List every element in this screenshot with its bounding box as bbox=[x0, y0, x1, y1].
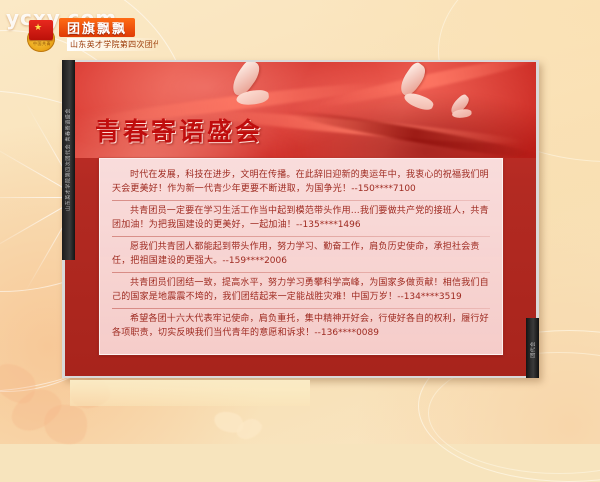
logo: ★ 中国共青团 团旗飘飘 山东英才学院第四次团代会 bbox=[25, 10, 155, 54]
message-signature: --150****7100 bbox=[351, 184, 416, 194]
emblem-micro-text: 中国共青团 bbox=[31, 40, 53, 48]
message-item: 希望各团十六大代表牢记使命，肩负重托，集中精神开好会，行使好各自的权利，履行好各… bbox=[110, 309, 492, 344]
message-signature: --136****0089 bbox=[314, 328, 379, 338]
message-item: 共青团员一定要在学习生活工作当中起到模范带头作用…我们要做共产党的接班人，共青团… bbox=[110, 201, 492, 236]
message-item: 愿我们共青团人都能起到带头作用，努力学习、勤奋工作，肩负历史使命，承担社会责任，… bbox=[110, 237, 492, 272]
left-vertical-strip: 山东英才学院第四次团代会 青春寄语盛会 bbox=[62, 60, 75, 260]
message-item: 共青团员们团结一致，提高水平，努力学习勇攀科学高峰，为国家多做贡献！相信我们自己… bbox=[110, 273, 492, 308]
message-text: 愿我们共青团人都能起到带头作用，努力学习、勤奋工作，肩负历史使命，承担社会责任，… bbox=[112, 242, 480, 266]
left-strip-label: 山东英才学院第四次团代会 青春寄语盛会 bbox=[65, 61, 72, 259]
slide-frame: 青春寄语盛会 时代在发展，科技在进步，文明在传播。在此辞旧迎新的奥运年中，我衷心… bbox=[62, 60, 539, 378]
message-item: 时代在发展，科技在进步，文明在传播。在此辞旧迎新的奥运年中，我衷心的祝福我们明天… bbox=[110, 165, 492, 200]
message-signature: --135****1496 bbox=[296, 220, 361, 230]
message-signature: --134****3519 bbox=[397, 292, 462, 302]
right-strip-label: 团代会 bbox=[530, 320, 537, 380]
message-signature: --159****2006 bbox=[222, 256, 287, 266]
messages-panel: 时代在发展，科技在进步，文明在传播。在此辞旧迎新的奥运年中，我衷心的祝福我们明天… bbox=[99, 158, 503, 355]
youth-league-emblem-icon: ★ 中国共青团 bbox=[25, 20, 59, 52]
logo-subtitle: 山东英才学院第四次团代会 bbox=[67, 38, 158, 51]
logo-title: 团旗飘飘 bbox=[59, 18, 135, 37]
page-title: 青春寄语盛会 bbox=[95, 112, 263, 148]
right-vertical-strip: 团代会 bbox=[526, 318, 539, 378]
slide-canvas: 青春寄语盛会 时代在发展，科技在进步，文明在传播。在此辞旧迎新的奥运年中，我衷心… bbox=[65, 62, 536, 376]
message-text: 时代在发展，科技在进步，文明在传播。在此辞旧迎新的奥运年中，我衷心的祝福我们明天… bbox=[112, 170, 489, 194]
footer-paper-strip bbox=[70, 380, 310, 406]
message-text: 希望各团十六大代表牢记使命，肩负重托，集中精神开好会，行使好各自的权利，履行好各… bbox=[112, 314, 489, 338]
